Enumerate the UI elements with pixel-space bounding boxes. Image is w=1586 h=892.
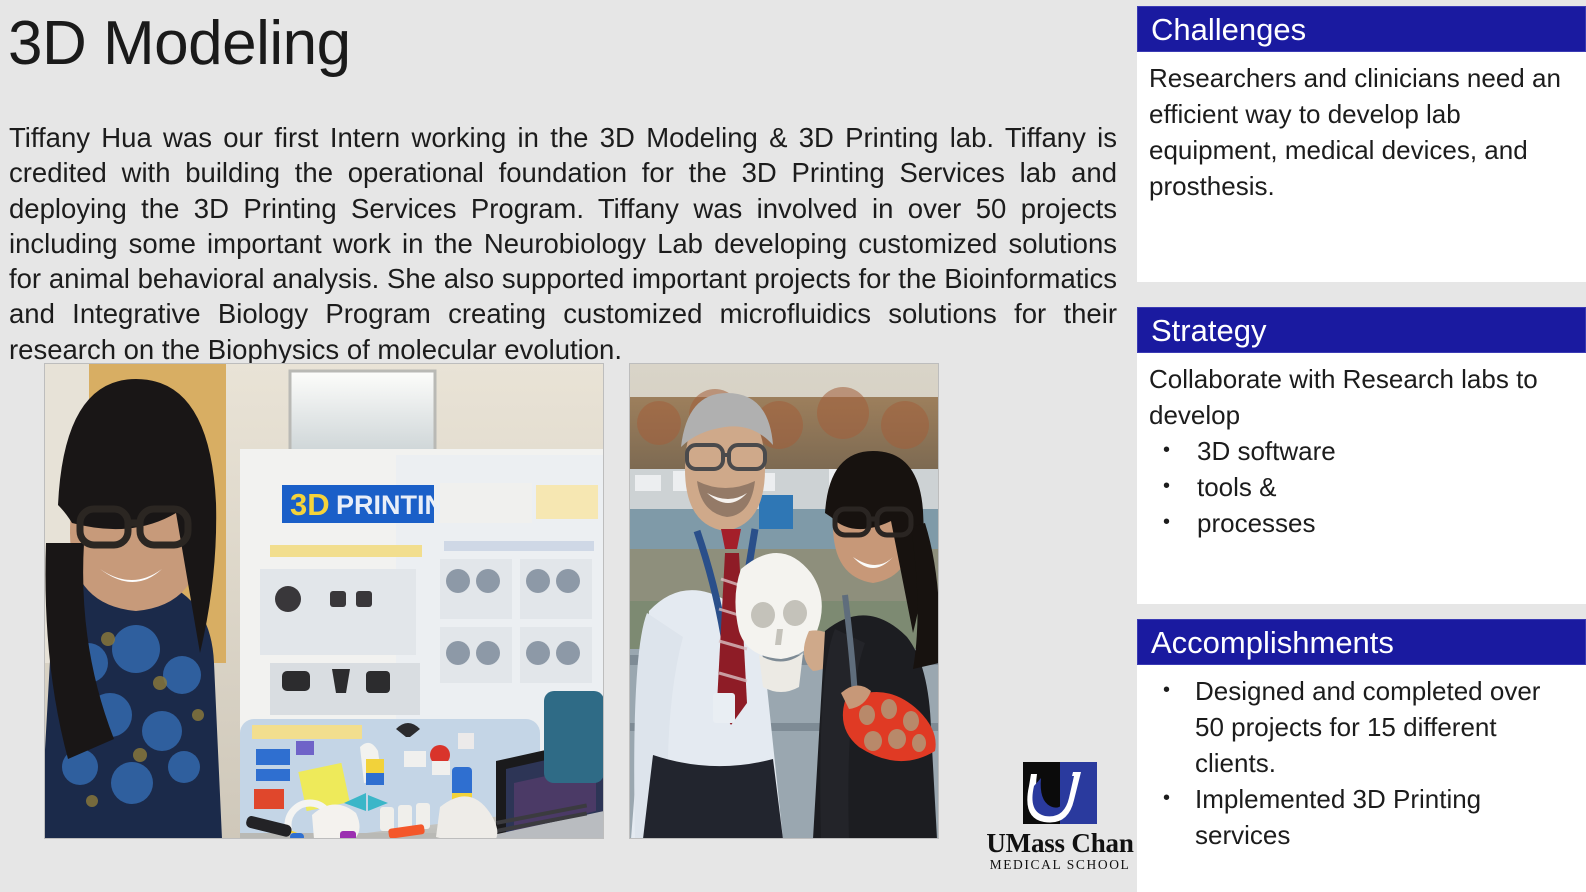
left-content-column: 3D Modeling Tiffany Hua was our first In… <box>0 0 1125 892</box>
logo-name: UMass Chan <box>965 829 1155 857</box>
logo-subtitle: MEDICAL SCHOOL <box>965 857 1155 873</box>
panel-challenges-header: Challenges <box>1137 6 1586 52</box>
panel-accomplishments-body: Designed and completed over 50 projects … <box>1137 665 1586 859</box>
photo-intern-and-colleague-with-3d-prints <box>629 363 939 839</box>
poster-slide: 3D Modeling Tiffany Hua was our first In… <box>0 0 1586 892</box>
body-paragraph: Tiffany Hua was our first Intern working… <box>9 120 1117 367</box>
panel-strategy-body: Collaborate with Research labs to develo… <box>1137 353 1586 547</box>
panel-strategy: Strategy Collaborate with Research labs … <box>1137 307 1586 604</box>
list-item: 3D software <box>1149 433 1576 469</box>
svg-text:3D: 3D <box>290 487 330 522</box>
photo-left-illustration: 3D PRINTING <box>44 363 604 839</box>
panel-strategy-bullets: 3D software tools & processes <box>1149 433 1576 541</box>
photo-intern-with-3d-printing-poster: 3D PRINTING <box>44 363 604 839</box>
panel-challenges-body: Researchers and clinicians need an effic… <box>1137 52 1586 210</box>
panel-accomplishments-header: Accomplishments <box>1137 619 1586 665</box>
umass-chan-logo-mark <box>1023 762 1097 824</box>
list-item: Designed and completed over 50 projects … <box>1149 673 1576 781</box>
right-panel-column: Challenges Researchers and clinicians ne… <box>1137 0 1586 892</box>
list-item: tools & <box>1149 469 1576 505</box>
panel-challenges-text: Researchers and clinicians need an effic… <box>1149 60 1576 204</box>
umass-chan-logo: UMass Chan MEDICAL SCHOOL <box>965 762 1155 874</box>
list-item: Implemented 3D Printing services <box>1149 781 1576 853</box>
page-title: 3D Modeling <box>8 8 351 80</box>
list-item: processes <box>1149 505 1576 541</box>
photo-right-illustration <box>629 363 939 839</box>
panel-strategy-header: Strategy <box>1137 307 1586 353</box>
panel-accomplishments: Accomplishments Designed and completed o… <box>1137 619 1586 892</box>
panel-accomplishments-bullets: Designed and completed over 50 projects … <box>1149 673 1576 853</box>
panel-strategy-text: Collaborate with Research labs to develo… <box>1149 361 1576 433</box>
panel-challenges: Challenges Researchers and clinicians ne… <box>1137 6 1586 282</box>
